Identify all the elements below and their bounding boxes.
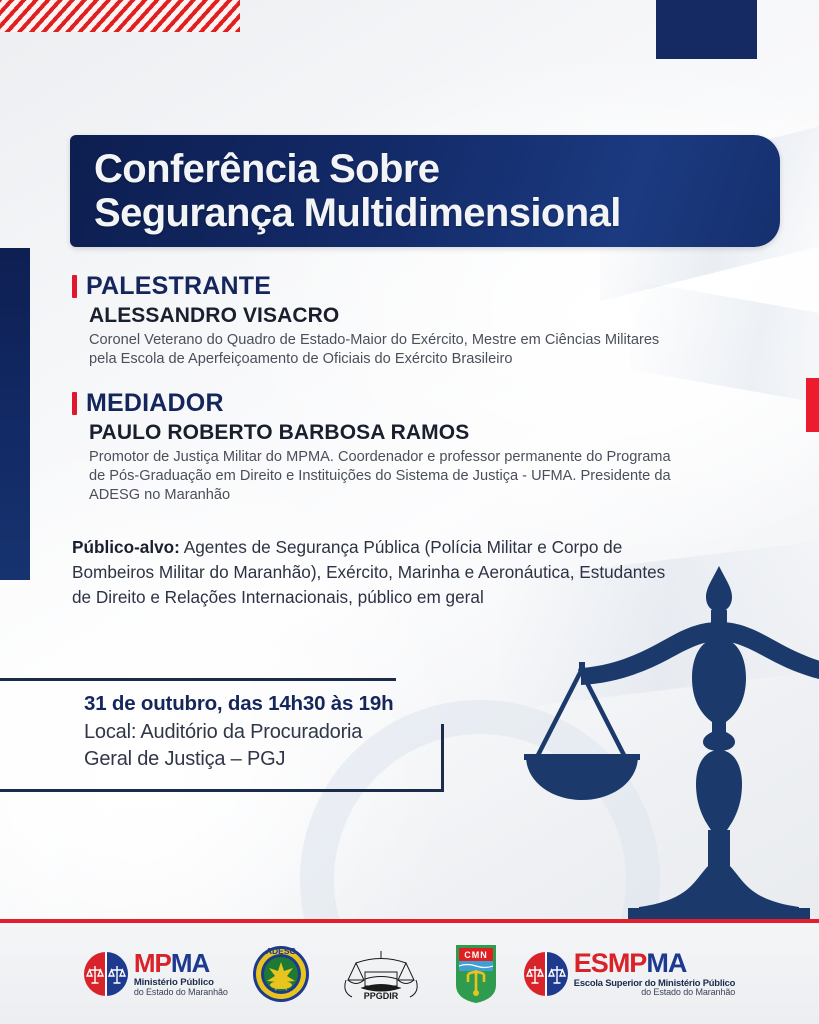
- left-blue-bar-decoration: [0, 248, 30, 580]
- logo-ppgdir: PPGDIR: [334, 946, 428, 1002]
- mpma-emblem-icon: [84, 952, 128, 996]
- mpma-acronym: MPMA: [134, 950, 228, 976]
- esmpma-acronym-part2: MA: [646, 948, 686, 978]
- logo-cmn: CMN: [452, 943, 500, 1005]
- esmpma-subtitle-2: do Estado do Maranhão: [574, 988, 735, 997]
- schedule-venue-line-1: Local: Auditório da Procuradoria: [84, 719, 444, 746]
- right-red-bar-decoration: [806, 378, 819, 432]
- speaker-section-label: PALESTRANTE: [86, 272, 271, 301]
- esmpma-acronym-part1: ESMP: [574, 948, 647, 978]
- mpma-acronym-part1: MP: [134, 948, 171, 978]
- esmpma-emblem-icon: [524, 952, 568, 996]
- frame-line-bottom: [0, 789, 444, 792]
- poster-content: PALESTRANTE ALESSANDRO VISACRO Coronel V…: [72, 272, 692, 609]
- mpma-text: MPMA Ministério Público do Estado do Mar…: [134, 950, 228, 997]
- poster-title-box: Conferência Sobre Segurança Multidimensi…: [70, 135, 780, 247]
- frame-line-top: [0, 678, 396, 681]
- adesg-acronym: ADESG: [266, 946, 297, 956]
- title-line-2: Segurança Multidimensional: [94, 191, 780, 235]
- logo-esmpma: ESMPMA Escola Superior do Ministério Púb…: [524, 950, 735, 996]
- mediator-section-label: MEDIADOR: [86, 389, 224, 418]
- cmn-acronym: CMN: [464, 950, 488, 960]
- esmpma-text: ESMPMA Escola Superior do Ministério Púb…: [574, 950, 735, 996]
- schedule-frame: 31 de outubro, das 14h30 às 19h Local: A…: [0, 678, 444, 792]
- scales-of-justice-icon: [488, 560, 819, 928]
- mediator-name: PAULO ROBERTO BARBOSA RAMOS: [89, 421, 692, 445]
- speaker-bio: Coronel Veterano do Quadro de Estado-Mai…: [89, 331, 689, 368]
- speaker-block: PALESTRANTE ALESSANDRO VISACRO Coronel V…: [72, 272, 692, 368]
- mediator-bio: Promotor de Justiça Militar do MPMA. Coo…: [89, 448, 689, 504]
- schedule-venue-line-2: Geral de Justiça – PGJ: [84, 746, 444, 773]
- speaker-section-heading: PALESTRANTE: [72, 272, 692, 301]
- target-audience-label: Público-alvo:: [72, 537, 180, 557]
- red-tick-icon: [72, 392, 77, 415]
- mediator-block: MEDIADOR PAULO ROBERTO BARBOSA RAMOS Pro…: [72, 389, 692, 504]
- speaker-name: ALESSANDRO VISACRO: [89, 304, 692, 328]
- title-line-1: Conferência Sobre: [94, 147, 780, 191]
- diagonal-stripes-decoration: [0, 0, 240, 32]
- blue-square-decoration: [656, 0, 757, 59]
- mediator-section-heading: MEDIADOR: [72, 389, 692, 418]
- schedule-text: 31 de outubro, das 14h30 às 19h Local: A…: [84, 692, 444, 772]
- footer-logo-bar: MPMA Ministério Público do Estado do Mar…: [0, 923, 819, 1024]
- event-poster: ESMPMA: [0, 0, 819, 1024]
- ppgdir-acronym: PPGDIR: [364, 991, 399, 1001]
- logo-adesg: ADESG: [252, 945, 310, 1003]
- red-tick-icon: [72, 275, 77, 298]
- mpma-acronym-part2: MA: [171, 948, 209, 978]
- mpma-subtitle-2: do Estado do Maranhão: [134, 988, 228, 997]
- target-audience: Público-alvo: Agentes de Segurança Públi…: [72, 535, 682, 609]
- schedule-date-time: 31 de outubro, das 14h30 às 19h: [84, 692, 444, 716]
- esmpma-acronym: ESMPMA: [574, 950, 735, 977]
- logo-mpma: MPMA Ministério Público do Estado do Mar…: [84, 950, 228, 997]
